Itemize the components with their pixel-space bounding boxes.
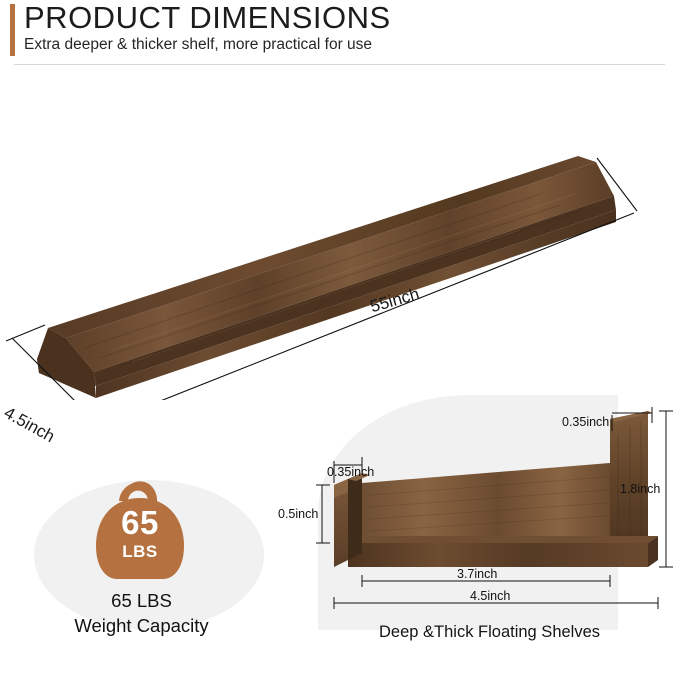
weight-caption-line2: Weight Capacity [24,615,259,637]
weight-caption-line1: 65 LBS [24,590,259,612]
header: PRODUCT DIMENSIONS Extra deeper & thicke… [0,0,679,66]
page-subtitle: Extra deeper & thicker shelf, more pract… [24,36,372,54]
weight-capacity-block: 65 LBS 65 LBS Weight Capacity [24,450,304,650]
depth-dimension-label: 4.5inch [0,403,58,447]
label-top-lip-thickness: 0.35inch [562,415,609,429]
cross-section-caption: Deep &Thick Floating Shelves [300,623,679,642]
weight-icon: 65 LBS [79,480,201,585]
accent-bar [10,4,15,56]
weight-unit: LBS [79,542,201,562]
shelf-3d-drawing [0,70,679,400]
label-front-lip-height: 0.5inch [278,507,318,521]
page-title: PRODUCT DIMENSIONS [24,0,391,36]
cross-section-diagram: 0.35inch 0.35inch 0.5inch 1.8inch 3.7inc… [300,395,679,679]
header-divider [14,64,665,65]
shelf-hero-illustration: 55inch 4.5inch [0,70,679,400]
label-total-height: 1.8inch [620,482,660,496]
weight-value: 65 [79,504,201,542]
label-back-thickness: 0.35inch [327,465,374,479]
label-total-depth: 4.5inch [470,589,510,603]
label-inner-depth: 3.7inch [457,567,497,581]
product-dimensions-infographic: PRODUCT DIMENSIONS Extra deeper & thicke… [0,0,679,679]
